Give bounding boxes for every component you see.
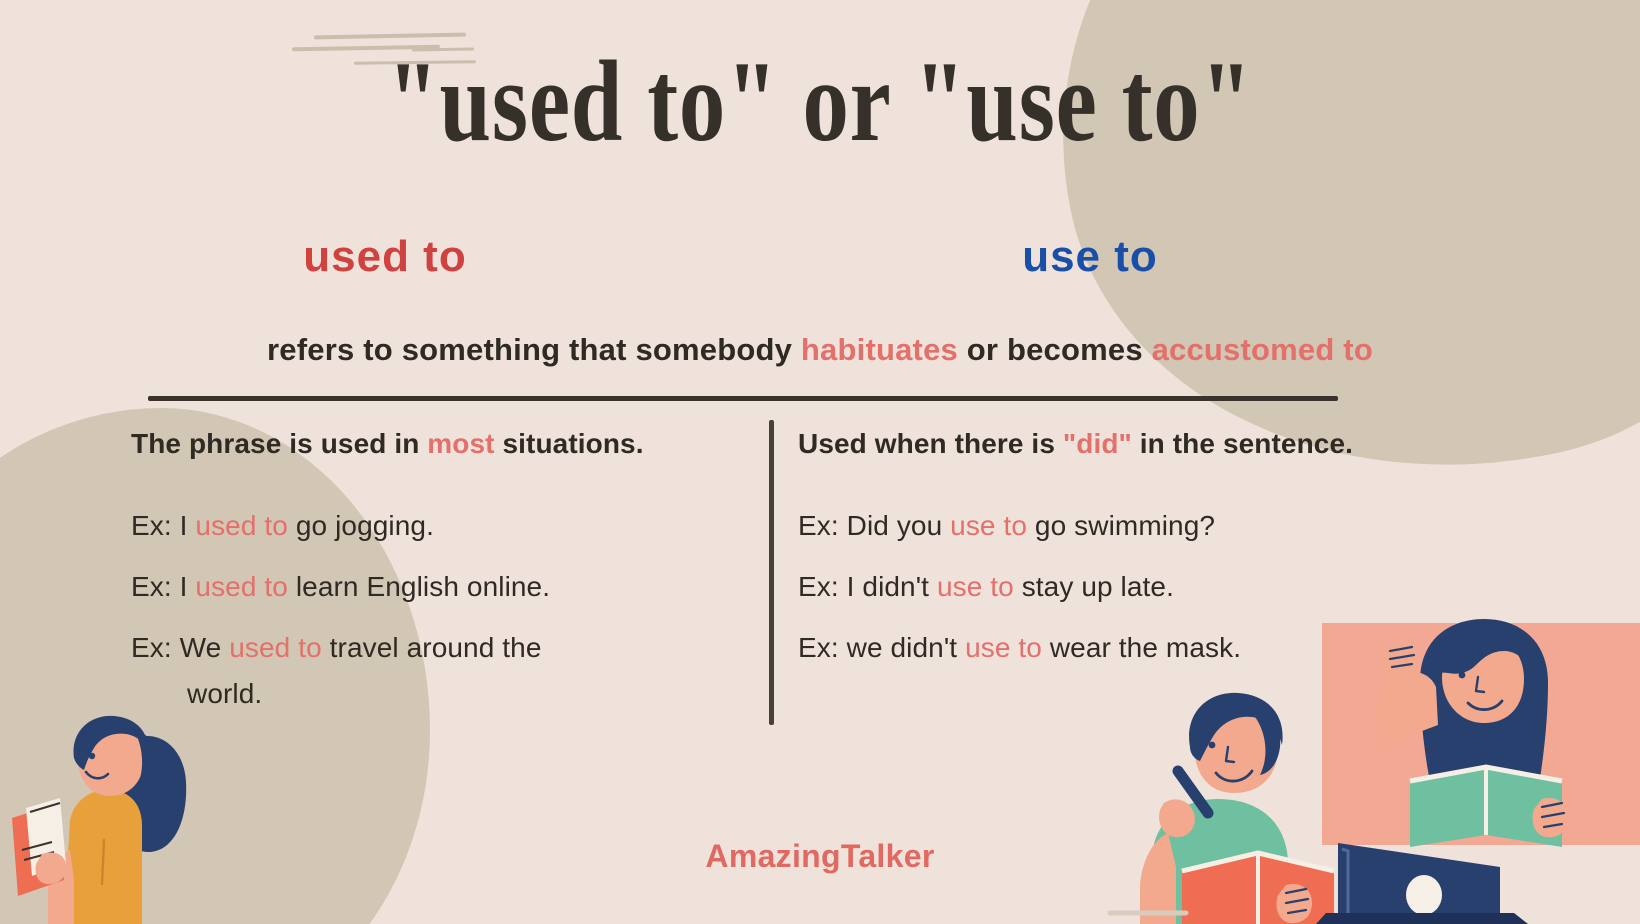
infographic-canvas: "used to" or "use to" used to use to ref…: [0, 0, 1640, 924]
definition-line: refers to something that somebody habitu…: [0, 332, 1640, 368]
example-item: Ex: I used to learn English online.: [131, 573, 751, 601]
definition-highlight-accustomed-to: accustomed to: [1152, 332, 1373, 367]
example-item: Ex: We used to travel around theworld.: [131, 634, 751, 708]
column-right-title-part-2: in the sentence.: [1132, 428, 1353, 459]
example-item: Ex: Did you use to go swimming?: [798, 512, 1398, 540]
column-left-title: The phrase is used in most situations.: [131, 428, 751, 460]
column-left-title-highlight: most: [427, 428, 494, 459]
example-item: Ex: I used to go jogging.: [131, 512, 751, 540]
definition-part-1: refers to something that somebody: [267, 332, 801, 367]
definition-highlight-habituates: habituates: [801, 332, 958, 367]
column-left-examples: Ex: I used to go jogging. Ex: I used to …: [131, 512, 751, 708]
column-right-title-part-1: Used when there is: [798, 428, 1063, 459]
heading-use-to: use to: [770, 232, 1640, 282]
column-left-title-part-2: situations.: [495, 428, 644, 459]
heading-used-to: used to: [0, 232, 770, 282]
column-headings: used to use to: [0, 232, 1640, 282]
horizontal-rule: [148, 396, 1338, 401]
column-used-to: The phrase is used in most situations. E…: [131, 428, 751, 741]
page-title: "used to" or "use to": [164, 42, 1476, 164]
vertical-divider: [769, 420, 774, 725]
girl-reading-book-illustration: [8, 700, 248, 924]
definition-part-2: or becomes: [958, 332, 1152, 367]
column-right-title-highlight: "did": [1063, 428, 1132, 459]
column-left-title-part-1: The phrase is used in: [131, 428, 427, 459]
column-right-title: Used when there is "did" in the sentence…: [798, 428, 1398, 460]
students-studying-illustration: [1090, 595, 1640, 924]
